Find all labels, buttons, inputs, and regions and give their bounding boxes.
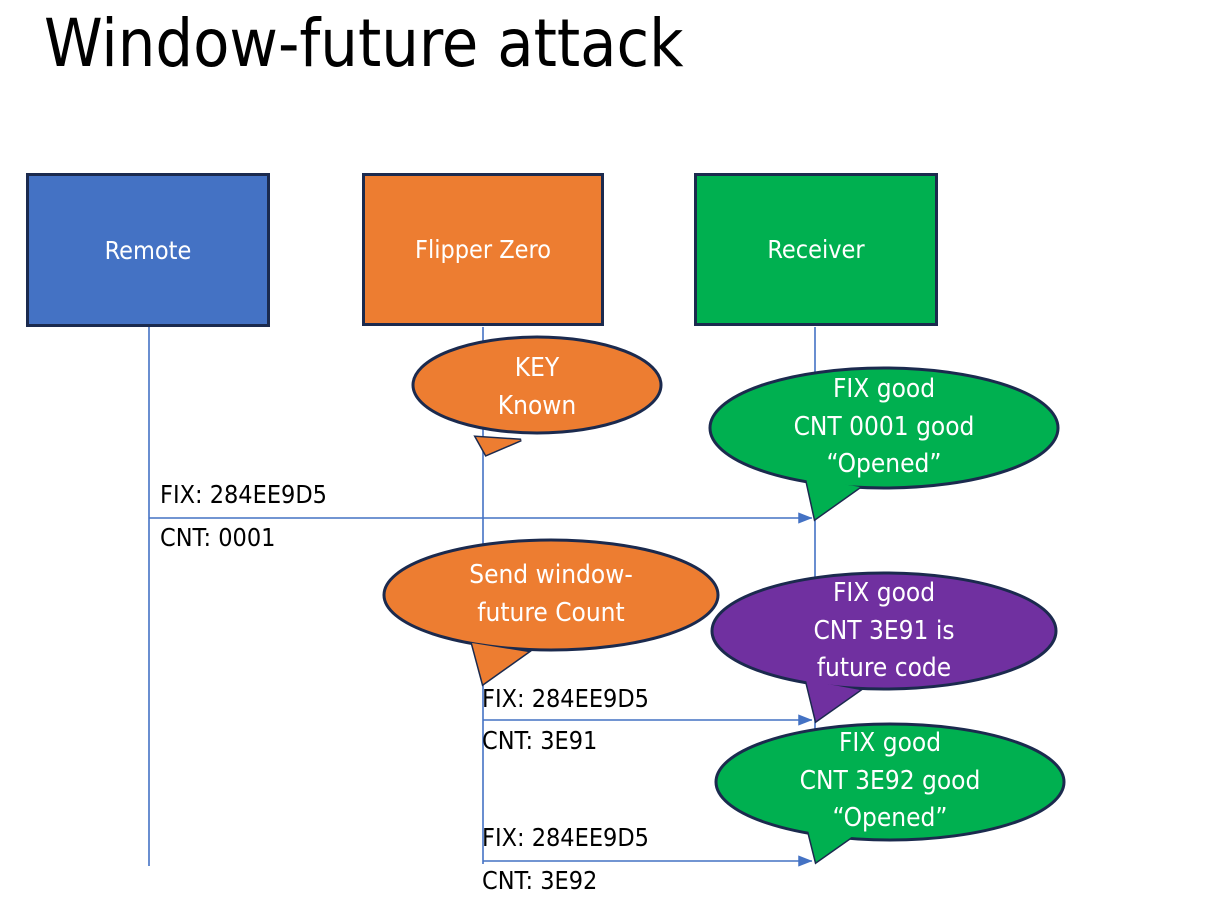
callout-text-key-known: KEY Known: [413, 350, 661, 425]
callout-key-known[interactable]: [413, 337, 661, 455]
actor-box-receiver[interactable]: Receiver: [694, 173, 938, 326]
callout-receiver-opened-3e92[interactable]: [716, 724, 1064, 862]
message-1-fix-label: FIX: 284EE9D5: [160, 482, 327, 507]
message-3-cnt-label: CNT: 3E92: [482, 868, 597, 893]
callout-text-receiver-opened-3e92: FIX good CNT 3E92 good “Opened”: [716, 725, 1064, 838]
actor-label-remote: Remote: [105, 236, 192, 265]
callout-receiver-future-code-3e91[interactable]: [712, 573, 1056, 721]
actor-box-remote[interactable]: Remote: [26, 173, 270, 327]
actor-label-flipper-zero: Flipper Zero: [415, 235, 551, 264]
actor-box-flipper-zero[interactable]: Flipper Zero: [362, 173, 604, 326]
callout-text-receiver-opened-0001: FIX good CNT 0001 good “Opened”: [710, 371, 1058, 484]
callout-text-receiver-future-code-3e91: FIX good CNT 3E91 is future code: [712, 575, 1056, 688]
page-title: Window-future attack: [44, 8, 1144, 81]
message-3-fix-label: FIX: 284EE9D5: [482, 825, 649, 850]
callout-receiver-opened-0001[interactable]: [710, 368, 1058, 519]
message-1-cnt-label: CNT: 0001: [160, 525, 275, 550]
diagram-vector-layer: [0, 0, 1216, 898]
message-2-fix-label: FIX: 284EE9D5: [482, 686, 649, 711]
slide-canvas: Window-future attack Remote Flipper Zero…: [0, 0, 1216, 898]
message-2-cnt-label: CNT: 3E91: [482, 728, 597, 753]
callout-text-send-window-future-count: Send window- future Count: [384, 557, 718, 632]
actor-label-receiver: Receiver: [767, 235, 864, 264]
callout-send-window-future-count[interactable]: [384, 540, 718, 684]
